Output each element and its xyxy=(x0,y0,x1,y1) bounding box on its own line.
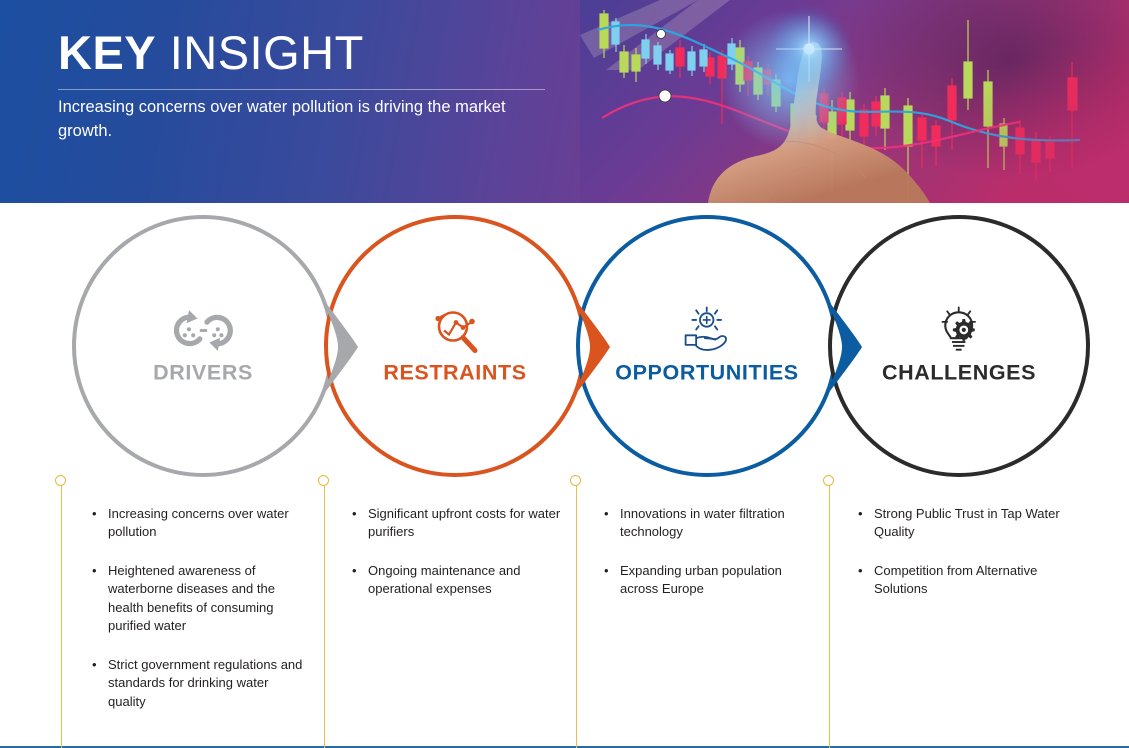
node-opportunities[interactable]: OPPORTUNITIES xyxy=(576,215,838,477)
node-content-challenges: CHALLENGES xyxy=(828,307,1090,386)
list-item: •Increasing concerns over water pollutio… xyxy=(90,505,305,542)
divider-1 xyxy=(55,475,68,748)
divider-line xyxy=(829,481,830,748)
node-content-drivers: DRIVERS xyxy=(72,307,334,386)
list-item: •Competition from Alternative Solutions xyxy=(856,562,1071,599)
title-divider-rule xyxy=(58,89,545,90)
bullet-marker-icon: • xyxy=(604,562,609,580)
candlestick-chart-hero-image xyxy=(580,0,1129,203)
list-item-text: Heightened awareness of waterborne disea… xyxy=(108,563,275,633)
list-item-text: Strong Public Trust in Tap Water Quality xyxy=(874,506,1060,539)
arrow-restraints-to-opportunities xyxy=(570,293,612,401)
list-item-text: Strict government regulations and standa… xyxy=(108,657,302,709)
bullet-marker-icon: • xyxy=(604,505,609,523)
node-content-opportunities: OPPORTUNITIES xyxy=(576,307,838,386)
header-banner: KEY INSIGHT Increasing concerns over wat… xyxy=(0,0,1129,203)
page-title-light: INSIGHT xyxy=(170,26,364,79)
bullet-list-drivers: •Increasing concerns over water pollutio… xyxy=(90,505,305,711)
bullet-marker-icon: • xyxy=(92,505,97,523)
list-item: •Significant upfront costs for water pur… xyxy=(350,505,565,542)
list-item: •Ongoing maintenance and operational exp… xyxy=(350,562,565,599)
bullet-list-opportunities: •Innovations in water filtration technol… xyxy=(602,505,817,599)
divider-2 xyxy=(318,475,331,748)
bullet-marker-icon: • xyxy=(352,505,357,523)
node-content-restraints: RESTRAINTS xyxy=(324,307,586,386)
bullet-marker-icon: • xyxy=(858,562,863,580)
lightbulb-gear-icon xyxy=(928,307,989,355)
list-item: •Strict government regulations and stand… xyxy=(90,656,305,711)
list-item: •Expanding urban population across Europ… xyxy=(602,562,817,599)
bullet-marker-icon: • xyxy=(352,562,357,580)
page-title: KEY INSIGHT xyxy=(58,28,364,77)
key-insight-infographic: KEY INSIGHT Increasing concerns over wat… xyxy=(0,0,1129,748)
list-item: •Heightened awareness of waterborne dise… xyxy=(90,562,305,636)
divider-3 xyxy=(570,475,583,748)
bullet-list-restraints: •Significant upfront costs for water pur… xyxy=(350,505,565,599)
divider-cap-top xyxy=(318,475,329,486)
list-item-text: Ongoing maintenance and operational expe… xyxy=(368,563,521,596)
list-item-text: Innovations in water filtration technolo… xyxy=(620,506,785,539)
divider-line xyxy=(324,481,325,748)
bullet-marker-icon: • xyxy=(92,656,97,674)
node-title-restraints: RESTRAINTS xyxy=(324,361,586,386)
divider-cap-top xyxy=(823,475,834,486)
hand-holding-idea-icon xyxy=(676,307,737,355)
divider-cap-top xyxy=(570,475,581,486)
node-title-challenges: CHALLENGES xyxy=(828,361,1090,386)
list-item: •Innovations in water filtration technol… xyxy=(602,505,817,542)
page-title-strong: KEY xyxy=(58,26,156,79)
divider-line xyxy=(576,481,577,748)
magnifying-glass-analytics-icon xyxy=(423,307,487,355)
arrow-drivers-to-restraints xyxy=(318,293,360,401)
list-item: •Strong Public Trust in Tap Water Qualit… xyxy=(856,505,1071,542)
divider-4 xyxy=(823,475,836,748)
list-item-text: Expanding urban population across Europe xyxy=(620,563,782,596)
node-restraints[interactable]: RESTRAINTS xyxy=(324,215,586,477)
recycle-cycle-arrows-icon xyxy=(165,307,242,355)
node-title-opportunities: OPPORTUNITIES xyxy=(576,361,838,386)
bullet-marker-icon: • xyxy=(92,562,97,580)
divider-line xyxy=(61,481,62,748)
list-item-text: Competition from Alternative Solutions xyxy=(874,563,1037,596)
divider-cap-top xyxy=(55,475,66,486)
bullet-list-challenges: •Strong Public Trust in Tap Water Qualit… xyxy=(856,505,1071,599)
node-drivers[interactable]: DRIVERS xyxy=(72,215,334,477)
process-flow-stage: DRIVERS xyxy=(0,203,1129,748)
page-subtitle: Increasing concerns over water pollution… xyxy=(58,96,558,144)
bullet-marker-icon: • xyxy=(858,505,863,523)
node-challenges[interactable]: CHALLENGES xyxy=(828,215,1090,477)
list-item-text: Significant upfront costs for water puri… xyxy=(368,506,560,539)
node-title-drivers: DRIVERS xyxy=(72,361,334,386)
arrow-opportunities-to-challenges xyxy=(822,293,864,401)
list-item-text: Increasing concerns over water pollution xyxy=(108,506,289,539)
